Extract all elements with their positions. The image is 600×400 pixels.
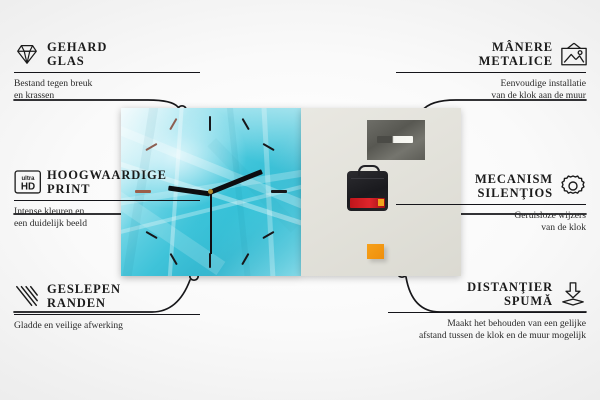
battery <box>350 198 385 208</box>
feature-rule <box>396 204 586 205</box>
feature-rule <box>396 72 586 73</box>
clock-movement <box>347 171 388 211</box>
foam-spacer-pad <box>367 244 384 259</box>
feature-title-line2: METALICE <box>479 54 553 68</box>
gear-icon <box>560 173 586 199</box>
feature-desc-line1: Gladde en veilige afwerking <box>14 320 123 331</box>
feature-rule <box>14 72 200 73</box>
metal-hanger-plate <box>367 120 425 160</box>
feature-title-line1: GEHARD <box>47 40 107 54</box>
feature-title-line2: PRINT <box>47 182 90 196</box>
feature-desc-line1: Eenvoudige installatie <box>500 78 586 89</box>
feature-title-line1: MECANISM <box>475 172 553 186</box>
feature-title-line1: GESLEPEN <box>47 282 121 296</box>
beveled-edges-icon <box>14 283 40 309</box>
picture-frame-hanger-icon <box>560 41 586 67</box>
feature-desc-line1: Maakt het behouden van een gelijke <box>447 318 586 329</box>
diamond-icon <box>14 41 40 67</box>
feature-desc-line2: van de klok aan de muur <box>491 90 586 101</box>
feature-desc-line2: van de klok <box>541 222 586 233</box>
feature-manere-metalice: MÂNERE METALICE Eenvoudige installatie v… <box>386 40 586 102</box>
feature-title-line1: MÂNERE <box>492 40 553 54</box>
feature-hoogwaardige-print: ultra HD HOOGWAARDIGE PRINT Intense kleu… <box>14 168 210 230</box>
spacer-arrow-icon <box>560 281 586 307</box>
feature-title-line2: SPUMĂ <box>504 294 553 308</box>
feature-title-line1: HOOGWAARDIGE <box>47 168 167 182</box>
feature-desc-line1: Bestand tegen breuk <box>14 78 92 89</box>
ultra-hd-icon: ultra HD <box>14 169 40 195</box>
feature-rule <box>388 312 586 313</box>
feature-title-line2: RANDEN <box>47 296 106 310</box>
feature-title-line2: SILENŢIOS <box>478 186 554 200</box>
feature-geslepen-randen: GESLEPEN RANDEN Gladde en veilige afwerk… <box>14 282 210 332</box>
feature-title-line1: DISTANŢIER <box>467 280 553 294</box>
feature-gehard-glas: GEHARD GLAS Bestand tegen breuk en krass… <box>14 40 210 102</box>
feature-mecanism-silentios: MECANISM SILENŢIOS Geruisloze wijzers va… <box>386 172 586 234</box>
feature-distantier-spuma: DISTANŢIER SPUMĂ Maakt het behouden van … <box>378 280 586 342</box>
ultra-hd-large: HD <box>21 182 35 193</box>
feature-desc-line1: Geruisloze wijzers <box>514 210 586 221</box>
feature-desc-line2: een duidelijk beeld <box>14 218 87 229</box>
second-hand <box>210 192 212 254</box>
feature-desc-line2: en krassen <box>14 90 54 101</box>
feature-title-line2: GLAS <box>47 54 85 68</box>
feature-desc-line1: Intense kleuren en <box>14 206 84 217</box>
feature-desc-line2: afstand tussen de klok en de muur mogeli… <box>419 330 586 341</box>
feature-rule <box>14 200 200 201</box>
feature-rule <box>14 314 200 315</box>
infographic-canvas: GEHARD GLAS Bestand tegen breuk en krass… <box>0 0 600 400</box>
